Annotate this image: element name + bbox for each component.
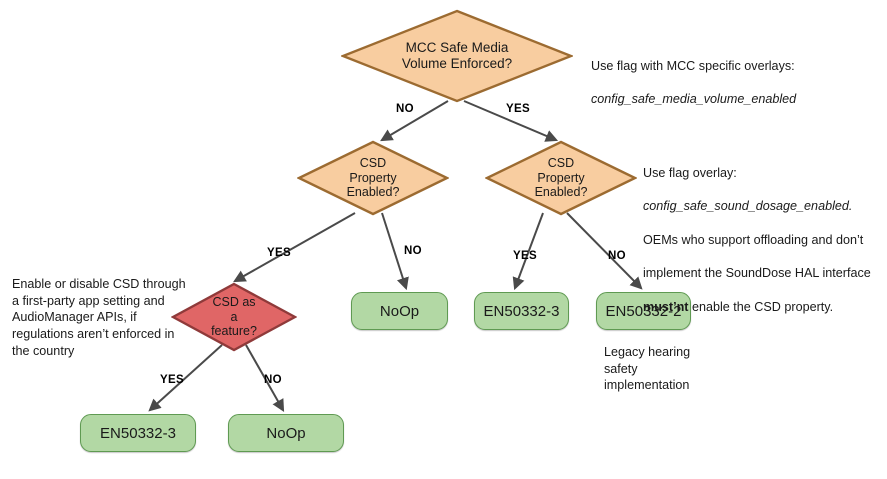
- node-label: CSD Property Enabled?: [347, 156, 400, 200]
- edge-label-feature-yes: YES: [160, 374, 184, 386]
- node-noop-bottom[interactable]: NoOp: [228, 414, 344, 452]
- note-mid-right-line3: OEMs who support offloading and don’t: [643, 232, 887, 249]
- edge-left-no: [382, 213, 406, 288]
- note-mid-right-line5: must’nt enable the CSD property.: [643, 299, 887, 316]
- note-left: Enable or disable CSD through a first-pa…: [12, 276, 194, 360]
- note-mid-right-line1: Use flag overlay:: [643, 165, 887, 182]
- node-label: CSD as a feature?: [211, 295, 257, 339]
- note-mid-right-line4: implement the SoundDose HAL interface: [643, 265, 887, 282]
- edge-label-feature-no: NO: [264, 374, 282, 386]
- edge-label-left-no: NO: [404, 245, 422, 257]
- note-mid-right-line2: config_safe_sound_dosage_enabled.: [643, 198, 887, 215]
- node-label: MCC Safe Media Volume Enforced?: [402, 40, 512, 72]
- edge-label-root-no: NO: [396, 103, 414, 115]
- edge-label-right-no: NO: [608, 250, 626, 262]
- note-top-right-line1: Use flag with MCC specific overlays:: [591, 58, 881, 75]
- edge-right-no: [567, 213, 641, 288]
- note-mid-right-line5-rest: enable the CSD property.: [688, 300, 833, 314]
- node-label: CSD Property Enabled?: [535, 156, 588, 200]
- note-mid-right-line5-emphasis: must’nt: [643, 300, 688, 314]
- note-legacy-implementation: Legacy hearing safety implementation: [604, 344, 724, 394]
- note-top-right: Use flag with MCC specific overlays: con…: [591, 41, 881, 125]
- edge-left-yes: [235, 213, 355, 281]
- node-label: NoOp: [380, 303, 419, 320]
- edge-label-root-yes: YES: [506, 103, 530, 115]
- edge-root-no: [382, 101, 448, 140]
- node-en50332-3-middle[interactable]: EN50332-3: [474, 292, 569, 330]
- node-label: NoOp: [266, 425, 305, 442]
- node-label: EN50332-3: [100, 425, 176, 442]
- edge-label-right-yes: YES: [513, 250, 537, 262]
- note-top-right-line2: config_safe_media_volume_enabled: [591, 91, 881, 108]
- note-mid-right: Use flag overlay: config_safe_sound_dosa…: [643, 148, 887, 332]
- node-label: EN50332-3: [484, 303, 560, 320]
- edge-label-left-yes: YES: [267, 247, 291, 259]
- flowchart-canvas: MCC Safe Media Volume Enforced? CSD Prop…: [0, 0, 887, 479]
- node-noop-middle[interactable]: NoOp: [351, 292, 448, 330]
- node-en50332-3-bottom[interactable]: EN50332-3: [80, 414, 196, 452]
- node-csd-property-enabled-right[interactable]: CSD Property Enabled?: [485, 140, 637, 216]
- node-mcc-safe-media-volume-enforced[interactable]: MCC Safe Media Volume Enforced?: [341, 9, 573, 103]
- node-csd-property-enabled-left[interactable]: CSD Property Enabled?: [297, 140, 449, 216]
